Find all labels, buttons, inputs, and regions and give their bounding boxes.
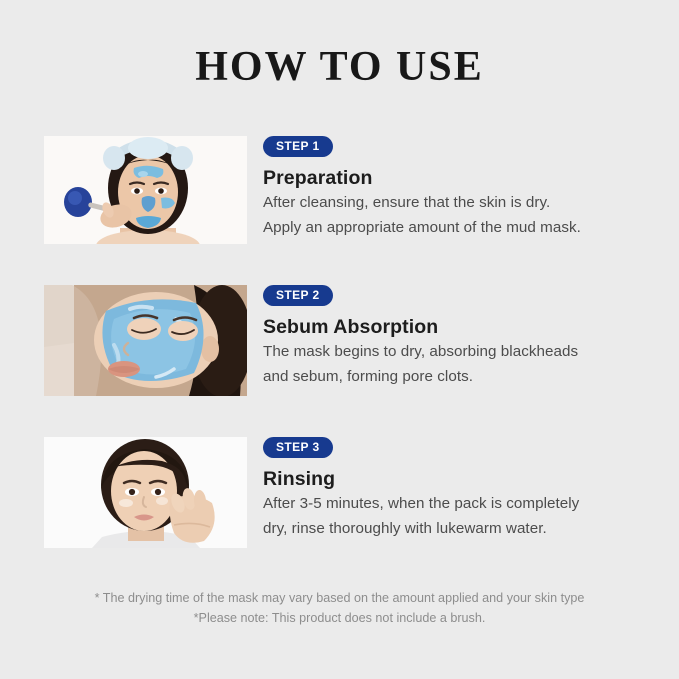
step-row-1: STEP 1 Preparation After cleansing, ensu… xyxy=(0,136,679,256)
step-1-text-line-1: After cleansing, ensure that the skin is… xyxy=(263,192,643,215)
step-2-content: STEP 2 Sebum Absorption The mask begins … xyxy=(263,285,643,388)
step-1-illustration xyxy=(44,136,247,244)
step-2-illustration xyxy=(44,285,247,396)
step-row-3: STEP 3 Rinsing After 3-5 minutes, when t… xyxy=(0,437,679,557)
how-to-use-page: HOW TO USE xyxy=(0,0,679,679)
step-1-badge: STEP 1 xyxy=(263,136,333,157)
footnote-no-brush: *Please note: This product does not incl… xyxy=(0,609,679,629)
step-3-badge: STEP 3 xyxy=(263,437,333,458)
step-2-photo xyxy=(44,285,247,396)
step-2-badge: STEP 2 xyxy=(263,285,333,306)
step-3-text-line-1: After 3-5 minutes, when the pack is comp… xyxy=(263,493,643,516)
step-3-text-line-2: dry, rinse thoroughly with lukewarm wate… xyxy=(263,518,643,541)
footnote-drying-time: * The drying time of the mask may vary b… xyxy=(0,589,679,609)
step-3-illustration xyxy=(44,437,247,548)
page-title: HOW TO USE xyxy=(0,46,679,88)
step-1-heading: Preparation xyxy=(263,167,643,190)
step-1-text-line-2: Apply an appropriate amount of the mud m… xyxy=(263,217,643,240)
step-2-text-line-2: and sebum, forming pore clots. xyxy=(263,366,643,389)
step-row-2: STEP 2 Sebum Absorption The mask begins … xyxy=(0,285,679,405)
step-2-text-line-1: The mask begins to dry, absorbing blackh… xyxy=(263,341,643,364)
step-1-photo xyxy=(44,136,247,244)
step-3-content: STEP 3 Rinsing After 3-5 minutes, when t… xyxy=(263,437,643,540)
step-3-photo xyxy=(44,437,247,548)
step-3-heading: Rinsing xyxy=(263,468,643,491)
step-2-heading: Sebum Absorption xyxy=(263,316,643,339)
step-1-content: STEP 1 Preparation After cleansing, ensu… xyxy=(263,136,643,239)
